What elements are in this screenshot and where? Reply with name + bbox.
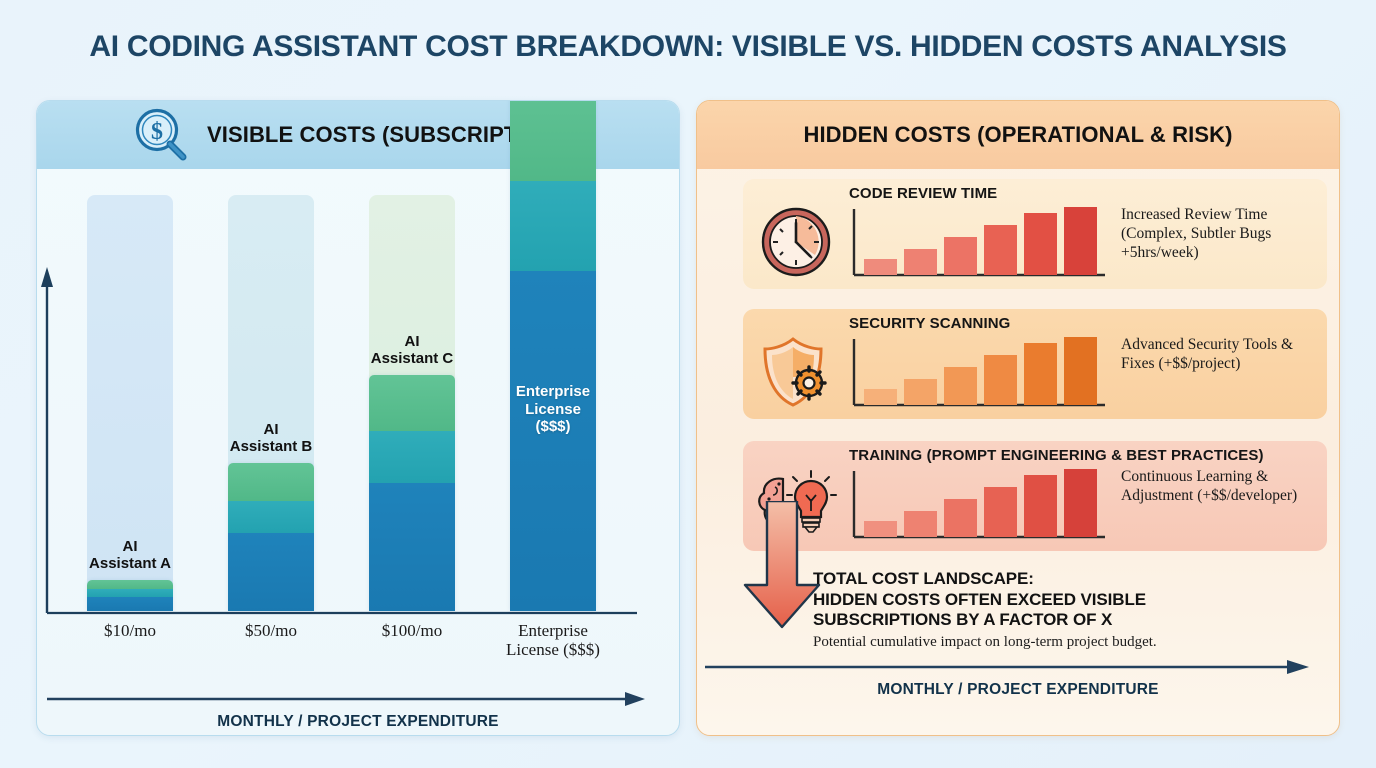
hidden-costs-panel: HIDDEN COSTS (OPERATIONAL & RISK) CODE R… (696, 100, 1340, 736)
bar-a-segment-addon (87, 589, 173, 597)
bar-ai-assistant-b[interactable] (228, 463, 314, 611)
page-title: AI CODING ASSISTANT COST BREAKDOWN: VISI… (0, 30, 1376, 64)
bar-d-segment-premium (510, 100, 596, 181)
visible-costs-chart-body: AIAssistant A AIAssistant B AIAssistant … (37, 169, 679, 735)
svg-text:$: $ (151, 119, 163, 145)
hidden-cost-card-security-scanning[interactable]: SECURITY SCANNING (743, 309, 1327, 419)
bar-c-segment-base (369, 483, 455, 611)
hidden-cost-card-training[interactable]: TRAINING (PROMPT ENGINEERING & BEST PRAC… (743, 441, 1327, 551)
card-description-training: Continuous Learning & Adjustment (+$$/de… (1121, 467, 1321, 505)
bar-a-segment-premium (87, 580, 173, 589)
hidden-costs-header: HIDDEN COSTS (OPERATIONAL & RISK) (697, 101, 1339, 169)
card-description-security-scanning: Advanced Security Tools & Fixes (+$$/pro… (1121, 335, 1321, 373)
shield-gear-icon (753, 333, 839, 411)
tick-label-b: $50/mo (211, 621, 331, 640)
left-axis-caption: MONTHLY / PROJECT EXPENDITURE (37, 713, 679, 731)
card-title-code-review: CODE REVIEW TIME (849, 185, 997, 202)
bar-d-segment-base (510, 271, 596, 611)
bar-b-segment-premium (228, 463, 314, 501)
card-description-code-review: Increased Review Time (Complex, Subtler … (1121, 205, 1321, 263)
visible-costs-bar-chart: AIAssistant A AIAssistant B AIAssistant … (37, 169, 679, 735)
bar-d-inner-label: EnterpriseLicense($$$) (510, 383, 596, 435)
bar-ai-assistant-a[interactable] (87, 580, 173, 611)
mini-chart-training (849, 469, 1111, 543)
hidden-costs-body: CODE REVIEW TIME (697, 169, 1339, 735)
bar-c-segment-addon (369, 431, 455, 483)
tick-label-d: EnterpriseLicense ($$$) (486, 621, 620, 660)
total-cost-summary: TOTAL COST LANDSCAPE: HIDDEN COSTS OFTEN… (813, 569, 1333, 651)
mini-chart-security-scanning (849, 337, 1111, 411)
bar-c-segment-premium (369, 375, 455, 431)
bar-b-segment-base (228, 533, 314, 611)
bar-label-c: AIAssistant C (349, 334, 475, 368)
bar-ai-assistant-c[interactable] (369, 375, 455, 611)
card-title-security-scanning: SECURITY SCANNING (849, 315, 1010, 332)
bar-a-segment-base (87, 597, 173, 611)
hidden-costs-header-label: HIDDEN COSTS (OPERATIONAL & RISK) (803, 122, 1232, 148)
clock-icon (753, 203, 839, 281)
bar-d-segment-addon (510, 181, 596, 271)
tick-label-c: $100/mo (352, 621, 472, 640)
bar-enterprise-license[interactable] (510, 100, 596, 611)
card-title-training: TRAINING (PROMPT ENGINEERING & BEST PRAC… (849, 447, 1264, 464)
magnifier-dollar-icon: $ (131, 106, 193, 164)
summary-line-3: SUBSCRIPTIONS BY A FACTOR OF X (813, 610, 1333, 631)
summary-subtext: Potential cumulative impact on long-term… (813, 634, 1333, 651)
visible-costs-panel: $ VISIBLE COSTS (SUBSCRIPTIONS) (36, 100, 680, 736)
right-axis-caption: MONTHLY / PROJECT EXPENDITURE (697, 681, 1339, 699)
bar-label-b: AIAssistant B (208, 422, 334, 456)
mini-chart-code-review (849, 207, 1111, 281)
bar-b-segment-addon (228, 501, 314, 533)
summary-line-2: HIDDEN COSTS OFTEN EXCEED VISIBLE (813, 590, 1333, 611)
tick-label-a: $10/mo (70, 621, 190, 640)
bar-label-a: AIAssistant A (67, 539, 193, 573)
hidden-cost-card-code-review[interactable]: CODE REVIEW TIME (743, 179, 1327, 289)
summary-line-1: TOTAL COST LANDSCAPE: (813, 569, 1333, 590)
